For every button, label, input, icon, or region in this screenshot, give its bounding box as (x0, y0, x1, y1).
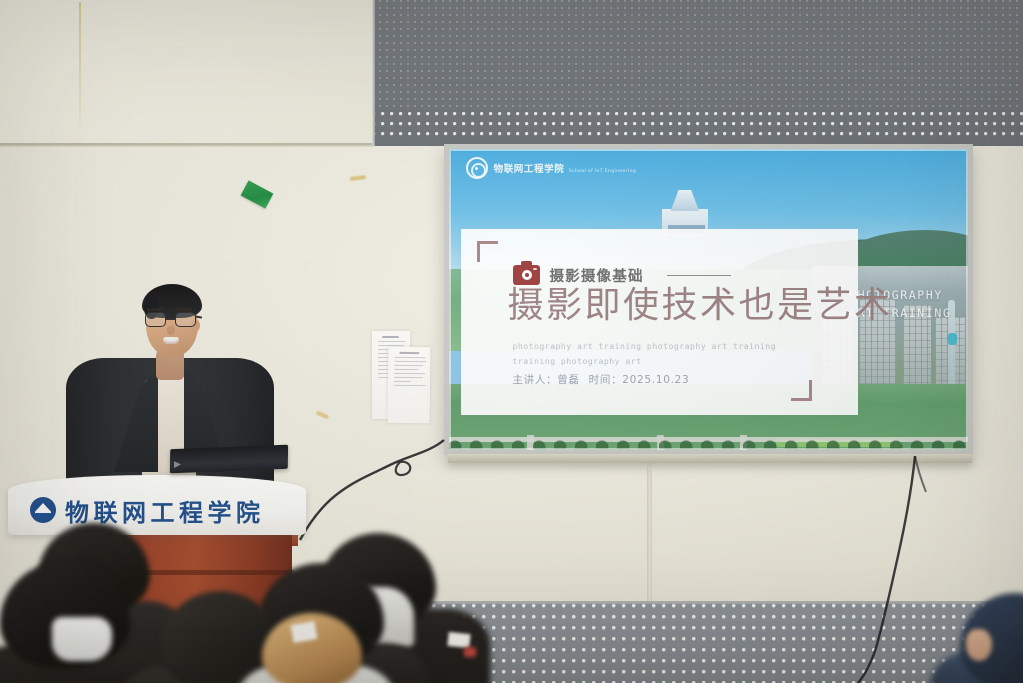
corner-bracket-bottom-right (791, 380, 812, 401)
glasses-bridge (166, 318, 175, 320)
glasses-icon (144, 312, 201, 327)
wall-panel-left (0, 0, 372, 146)
audience-paper (447, 632, 470, 648)
wall-seam-vertical-left (79, 2, 81, 142)
acoustic-panel-upper (372, 0, 1023, 146)
slide-meta: 主讲人：曾磊时间：2025.10.23 (512, 372, 689, 387)
concentric-circles-logo-icon (466, 157, 488, 179)
host-label: 主讲人： (512, 374, 557, 386)
glasses-lens-left (145, 312, 166, 327)
slide-kicker: 摄影摄像基础 (513, 265, 730, 286)
slide-subtitle: photography art training photography art… (512, 339, 812, 369)
divider-rule (667, 275, 731, 276)
presenter-mouth (163, 337, 179, 344)
slide-logo-cn: 物联网工程学院 (494, 164, 565, 175)
time-label: 时间： (589, 374, 623, 386)
presenter-nose (167, 326, 175, 335)
host-name: 曾磊 (557, 374, 579, 386)
audience-hand (966, 629, 992, 661)
presentation-display[interactable]: PHOTOGRAPHY ART TRAINING 物联网工程学院 School … (444, 144, 973, 455)
display-screen[interactable]: PHOTOGRAPHY ART TRAINING 物联网工程学院 School … (449, 149, 968, 450)
slide-bg-marker (948, 333, 957, 345)
display-shelf (448, 454, 972, 463)
camera-icon (513, 265, 540, 285)
slide-content-card: 摄影摄像基础 摄影即使技术也是艺术 photography art traini… (461, 229, 858, 416)
slide-logo-en: School of IoT Engineering (569, 169, 636, 174)
slide-bg-trees (449, 437, 968, 449)
slide-title: 摄影即使技术也是艺术 (507, 285, 892, 327)
slide-logo: 物联网工程学院 School of IoT Engineering (466, 157, 637, 179)
face-mask (52, 617, 112, 661)
laptop[interactable] (170, 445, 288, 474)
wall-notice-right (388, 347, 431, 423)
time-value: 2025.10.23 (622, 374, 689, 386)
acoustic-panel-edge (372, 0, 375, 146)
wall-line-left (0, 143, 372, 145)
glasses-lens-right (175, 312, 196, 327)
audience (0, 505, 1023, 683)
lecture-hall-photo: PHOTOGRAPHY ART TRAINING 物联网工程学院 School … (0, 0, 1023, 683)
slide-kicker-label: 摄影摄像基础 (549, 265, 643, 286)
audience-red-object (464, 647, 476, 657)
corner-bracket-top-left (477, 241, 498, 262)
slide-logo-text: 物联网工程学院 School of IoT Engineering (494, 160, 637, 177)
